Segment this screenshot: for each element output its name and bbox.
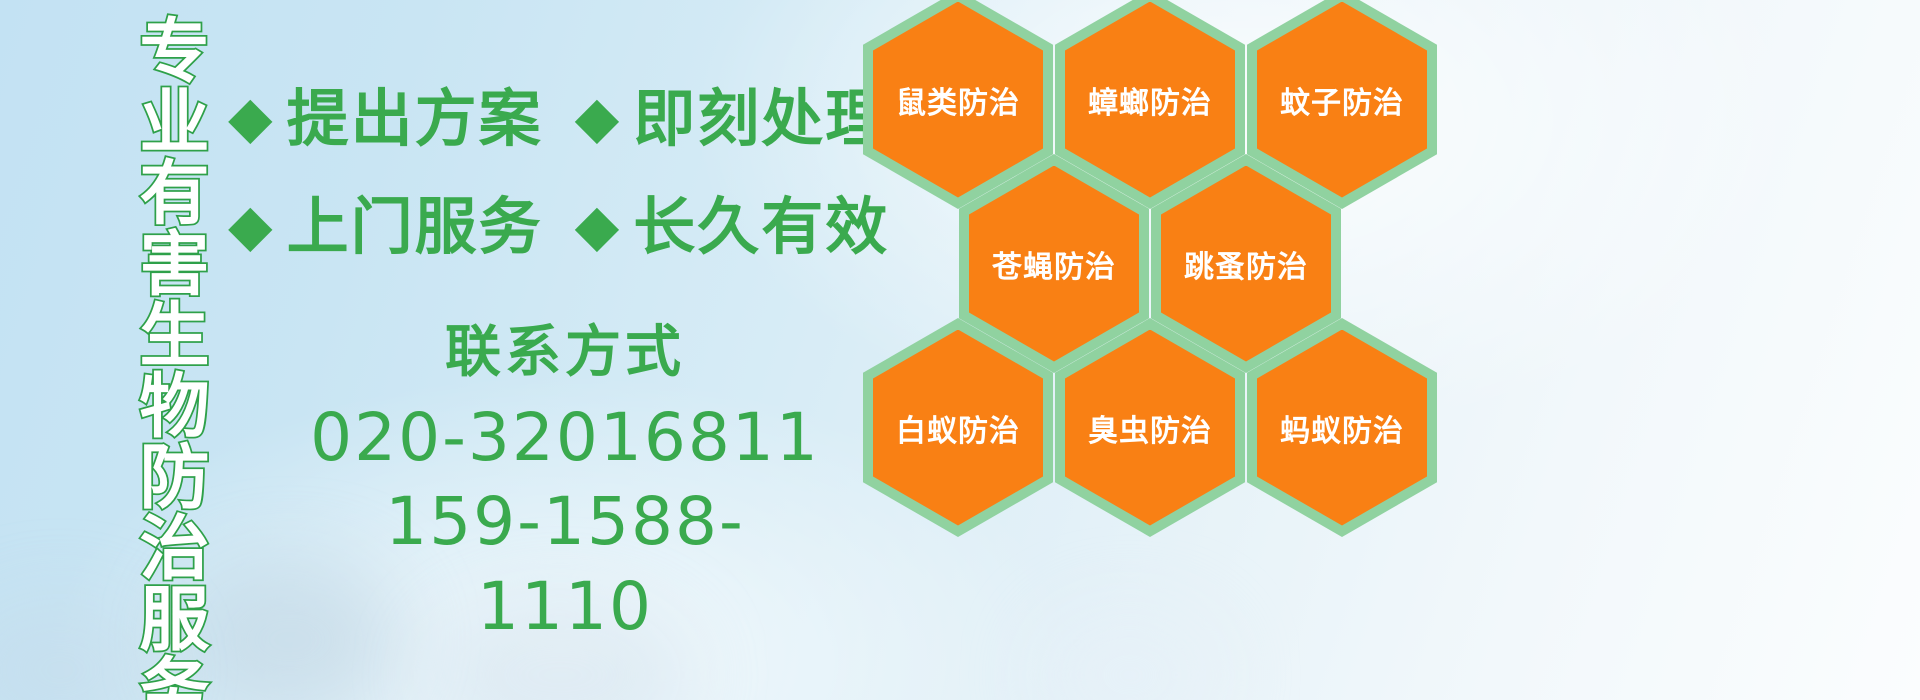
- service-hex-face: 臭虫防治: [1065, 330, 1235, 526]
- feature-label: 长久有效: [633, 196, 889, 258]
- service-hex-label: 白蚁防治: [896, 406, 1020, 450]
- diamond-bullet-icon: ◆: [575, 88, 620, 146]
- feature-label: 上门服务: [287, 196, 543, 258]
- service-hex-label: 蚊子防治: [1280, 78, 1404, 122]
- promo-banner: 专业有害生物防治服务 ◆ 提出方案 ◆ 即刻处理 ◆ 上门服务 ◆ 长久有效 联…: [0, 0, 1920, 700]
- phone-number-landline[interactable]: 020-32016811: [300, 396, 830, 480]
- service-hex-face: 蚊子防治: [1257, 2, 1427, 198]
- service-hex-face: 跳蚤防治: [1161, 166, 1331, 362]
- feature-row-2: ◆ 上门服务 ◆ 长久有效: [228, 196, 889, 258]
- vertical-company-slogan: 专业有害生物防治服务: [108, 14, 204, 700]
- phone-number-mobile[interactable]: 159-1588-1110: [300, 480, 830, 649]
- service-hex-face: 蚂蚁防治: [1257, 330, 1427, 526]
- service-hex-label: 臭虫防治: [1088, 406, 1212, 450]
- feature-item-长久有效: ◆ 长久有效: [575, 196, 890, 258]
- service-hex-face: 蟑螂防治: [1065, 2, 1235, 198]
- feature-item-提出方案: ◆ 提出方案: [228, 88, 543, 150]
- service-hex-label: 跳蚤防治: [1184, 242, 1308, 286]
- service-hex-face: 鼠类防治: [873, 2, 1043, 198]
- service-hex-label: 蟑螂防治: [1088, 78, 1212, 122]
- contact-title: 联系方式: [300, 318, 830, 388]
- feature-label: 提出方案: [287, 88, 543, 150]
- diamond-bullet-icon: ◆: [575, 196, 620, 254]
- feature-label: 即刻处理: [633, 88, 889, 150]
- diamond-bullet-icon: ◆: [228, 196, 273, 254]
- service-hex-label: 苍蝇防治: [992, 242, 1116, 286]
- service-hex-label: 鼠类防治: [896, 78, 1020, 122]
- diamond-bullet-icon: ◆: [228, 88, 273, 146]
- feature-item-即刻处理: ◆ 即刻处理: [575, 88, 890, 150]
- feature-item-上门服务: ◆ 上门服务: [228, 196, 543, 258]
- service-hex-label: 蚂蚁防治: [1280, 406, 1404, 450]
- service-hex-face: 苍蝇防治: [969, 166, 1139, 362]
- feature-row-1: ◆ 提出方案 ◆ 即刻处理: [228, 88, 889, 150]
- contact-block: 联系方式 020-32016811 159-1588-1110: [300, 318, 830, 649]
- service-honeycomb: 鼠类防治 蟑螂防治 蚊子防治 苍蝇防治 跳蚤防治 白蚁防: [855, 0, 1475, 700]
- service-hex-face: 白蚁防治: [873, 330, 1043, 526]
